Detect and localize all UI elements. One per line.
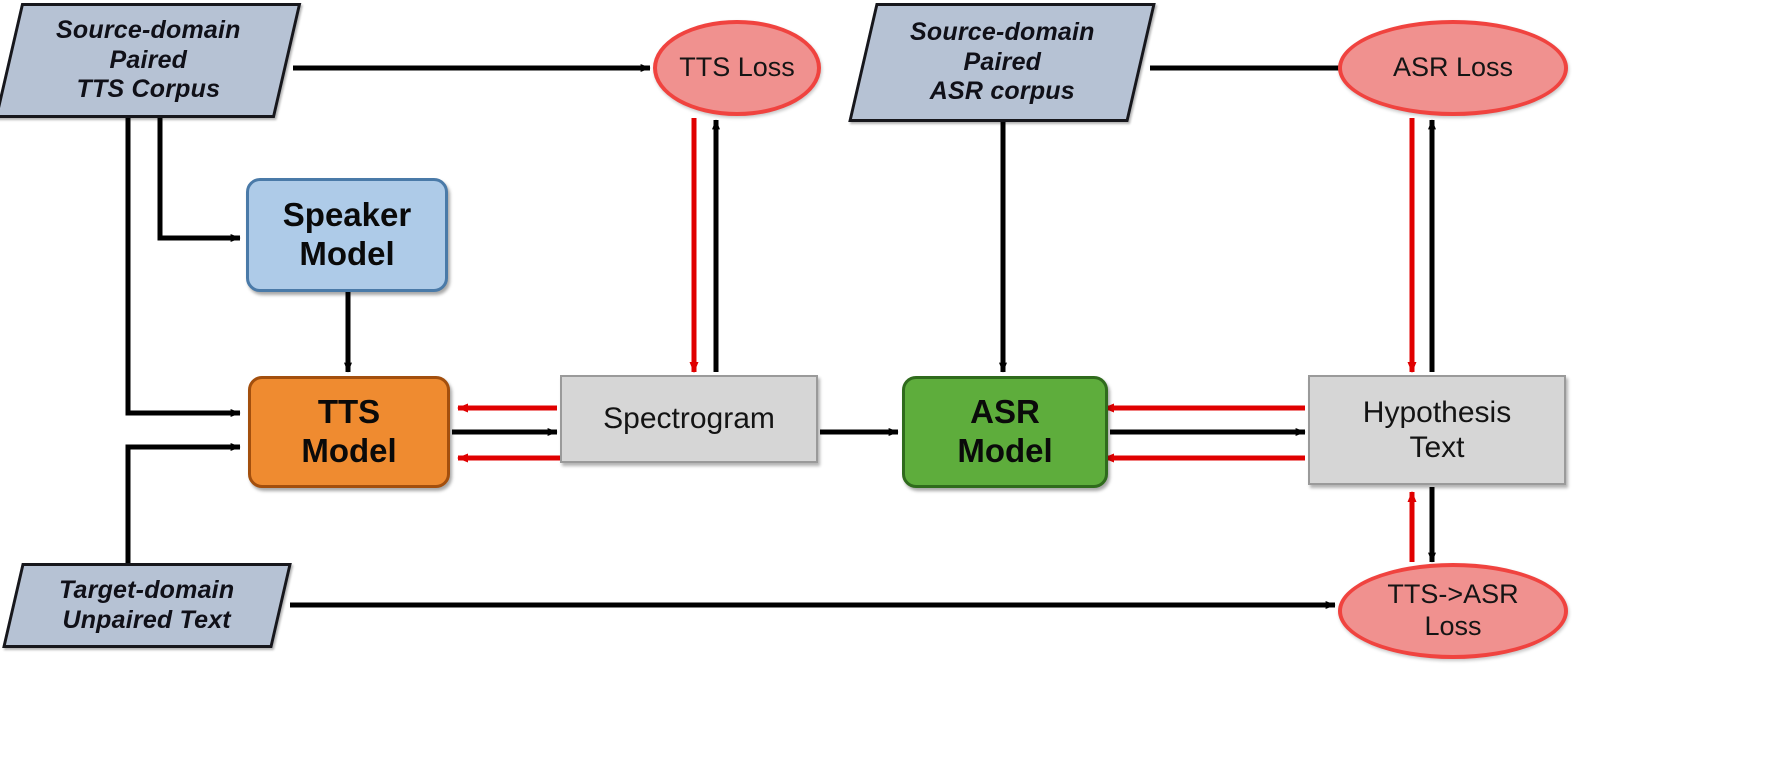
node-source-asr-corpus[interactable]: Source-domain Paired ASR corpus <box>848 3 1155 122</box>
node-target-unpaired-text[interactable]: Target-domain Unpaired Text <box>2 563 292 648</box>
speaker-model-label: Speaker Model <box>283 196 411 274</box>
node-hypothesis-text[interactable]: Hypothesis Text <box>1308 375 1566 485</box>
backward-edges <box>458 118 1412 562</box>
node-asr-model[interactable]: ASR Model <box>902 376 1108 488</box>
node-tts-model[interactable]: TTS Model <box>248 376 450 488</box>
forward-edges <box>128 68 1432 605</box>
source-tts-corpus-label: Source-domain Paired TTS Corpus <box>56 16 241 105</box>
target-unpaired-text-label: Target-domain Unpaired Text <box>59 576 234 635</box>
tts2asr-loss-label: TTS->ASR Loss <box>1387 579 1518 643</box>
asr-model-label: ASR Model <box>957 393 1052 471</box>
source-asr-corpus-label: Source-domain Paired ASR corpus <box>910 18 1095 107</box>
tts-model-label: TTS Model <box>301 393 396 471</box>
tts-loss-label: TTS Loss <box>679 52 795 84</box>
node-source-tts-corpus[interactable]: Source-domain Paired TTS Corpus <box>0 3 301 118</box>
hypothesis-text-label: Hypothesis Text <box>1363 395 1511 466</box>
node-spectrogram[interactable]: Spectrogram <box>560 375 818 463</box>
diagram-canvas: Source-domain Paired TTS Corpus Source-d… <box>0 0 1786 761</box>
node-tts-loss[interactable]: TTS Loss <box>653 20 821 116</box>
spectrogram-label: Spectrogram <box>603 401 775 436</box>
node-asr-loss[interactable]: ASR Loss <box>1338 20 1568 116</box>
node-speaker-model[interactable]: Speaker Model <box>246 178 448 292</box>
asr-loss-label: ASR Loss <box>1393 52 1513 84</box>
node-tts2asr-loss[interactable]: TTS->ASR Loss <box>1338 563 1568 659</box>
